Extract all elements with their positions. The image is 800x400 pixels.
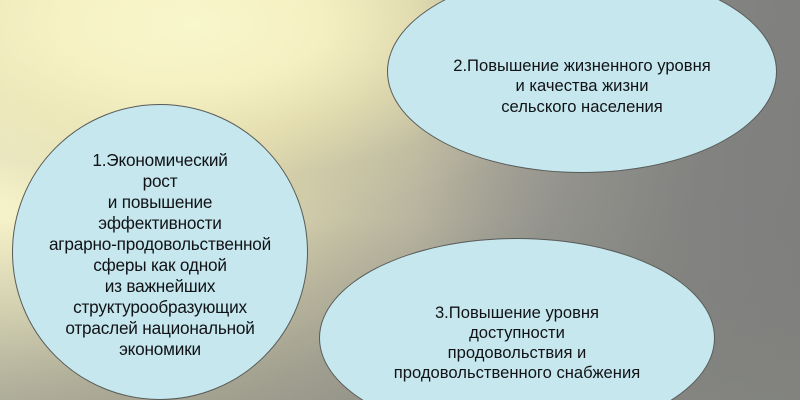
slide-canvas: 1.Экономический рост и повышение эффекти…: [0, 0, 800, 400]
economic-growth-ellipse-text: 1.Экономический рост и повышение эффекти…: [45, 150, 275, 360]
economic-growth-ellipse[interactable]: 1.Экономический рост и повышение эффекти…: [12, 104, 308, 400]
living-standards-ellipse-text: 2.Повышение жизненного уровня и качества…: [449, 56, 715, 117]
food-accessibility-ellipse-text: 3.Повышение уровня доступности продоволь…: [390, 303, 644, 384]
